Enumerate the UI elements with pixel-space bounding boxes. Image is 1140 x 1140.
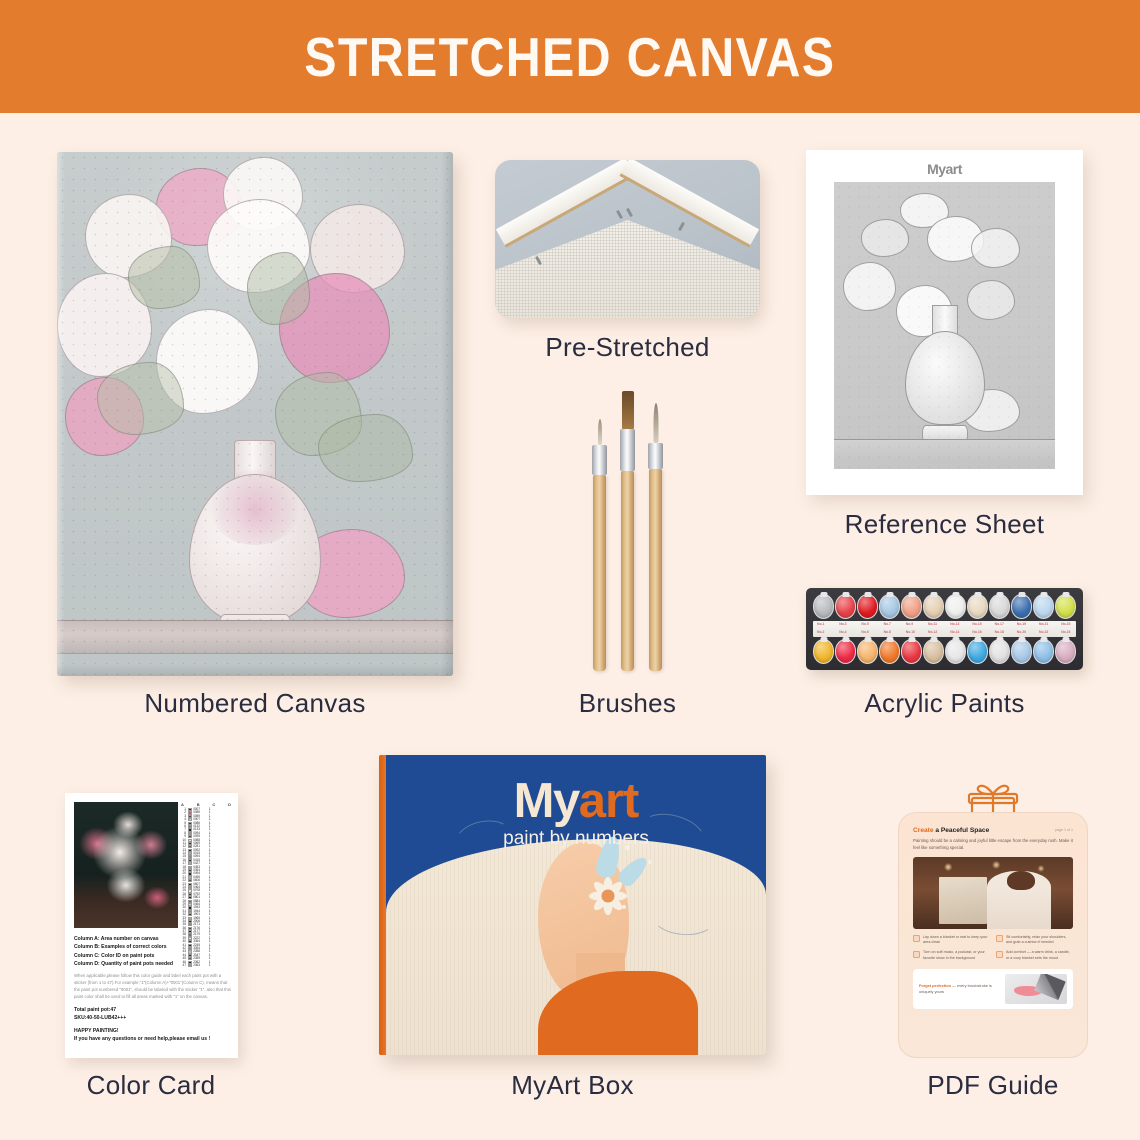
legend-column-d: Column D: Quantity of paint pots needed <box>74 960 232 968</box>
paint-pot-label: No.12 <box>928 630 937 634</box>
pdf-guide-note: Forget perfection — every brushstroke is… <box>913 969 1073 1009</box>
paint-pot-label: No.14 <box>950 630 959 634</box>
paint-pot <box>857 639 878 664</box>
reference-sheet-image: Myart <box>806 150 1083 495</box>
caption-color-card: Color Card <box>38 1070 264 1101</box>
staple-icon <box>626 208 633 217</box>
pdf-guide-tip: Sit comfortably, relax your shoulders, a… <box>996 935 1073 946</box>
color-card-image: A B C D 10007120085130089140007150086160… <box>65 793 238 1058</box>
paint-pot <box>813 639 834 664</box>
paint-pot-label: No.22 <box>1039 630 1048 634</box>
paint-pot <box>945 594 966 619</box>
paint-pot-label: No.17 <box>995 622 1004 626</box>
legend-column-c: Column C: Color ID on paint pots <box>74 952 232 960</box>
paint-pot <box>1055 639 1076 664</box>
title-highlight: Create <box>913 827 934 834</box>
paint-pot <box>989 639 1010 664</box>
paint-label-strip: No.1No.2No.3No.4No.5No.6No.7No.8No.9No.1… <box>813 621 1076 637</box>
brushes-image <box>575 386 680 671</box>
paint-pot-label: No.6 <box>861 630 868 634</box>
tip-icon <box>913 935 920 942</box>
paint-pot-label: No.15 <box>972 622 981 626</box>
paint-pot <box>901 594 922 619</box>
paint-pot-label: No.23 <box>1061 622 1070 626</box>
infographic-page: STRETCHED CANVAS <box>0 0 1140 1140</box>
tip-text: Add comfort — a warm drink, a candle, or… <box>1006 950 1073 961</box>
reference-artwork <box>834 182 1055 469</box>
contact-note: If you have any questions or need help,p… <box>74 1035 232 1043</box>
caption-acrylic-paints: Acrylic Paints <box>806 688 1083 719</box>
pdf-guide-tips: Lay down a blanket or mat to keep your a… <box>913 935 1073 962</box>
myart-box-image: Myart paint by numbers <box>379 755 766 1055</box>
pdf-guide-card: Create a Peaceful Space page 1 of 1 Pain… <box>898 812 1088 1058</box>
caption-numbered-canvas: Numbered Canvas <box>57 688 453 719</box>
brush-flat <box>621 391 634 671</box>
paint-pot <box>989 594 1010 619</box>
pdf-guide-photo <box>913 857 1073 929</box>
title-rest: a Peaceful Space <box>934 827 990 834</box>
legend-column-b: Column B: Examples of correct colors <box>74 943 232 951</box>
logo-my: My <box>514 774 579 828</box>
tip-text: Lay down a blanket or mat to keep your a… <box>923 935 990 946</box>
note-highlight: Forget perfection <box>919 983 951 988</box>
paint-pot-label: No.3 <box>839 622 846 626</box>
paint-pot <box>1055 594 1076 619</box>
paint-pot-label: No.8 <box>884 630 891 634</box>
color-card-text: Column A: Area number on canvas Column B… <box>74 935 232 1044</box>
paint-pot-label: No.13 <box>950 622 959 626</box>
pdf-page-number: page 1 of 1 <box>1055 828 1073 832</box>
paint-pot <box>879 639 900 664</box>
pre-stretched-image <box>495 160 760 318</box>
col-c: C <box>212 802 215 807</box>
paint-by-numbers-artwork <box>57 152 453 676</box>
number-dots-overlay <box>57 152 453 676</box>
staple-icon <box>678 222 685 231</box>
paint-pot-label: No.4 <box>839 630 846 634</box>
color-card-painting <box>74 802 178 928</box>
paint-pot <box>1033 594 1054 619</box>
reference-sheet-logo: Myart <box>806 161 1083 177</box>
paint-pot <box>857 594 878 619</box>
pdf-guide-title: Create a Peaceful Space <box>913 827 1073 834</box>
paint-pot <box>945 639 966 664</box>
paint-pot-label: No.16 <box>972 630 981 634</box>
caption-reference-sheet: Reference Sheet <box>806 509 1083 540</box>
caption-pdf-guide: PDF Guide <box>876 1070 1110 1101</box>
sku: SKU:40-50-LUB42+++ <box>74 1014 232 1022</box>
tip-text: Turn on soft music, a podcast, or your f… <box>923 950 990 961</box>
paint-pot <box>835 639 856 664</box>
tip-icon <box>996 951 1003 958</box>
paint-pot-label: No.11 <box>928 622 937 626</box>
happy-painting: HAPPY PAINTING! <box>74 1027 232 1035</box>
brand-logo: Myart <box>386 773 766 829</box>
paint-pot <box>901 639 922 664</box>
paint-pot-label: No.2 <box>817 630 824 634</box>
header-banner: STRETCHED CANVAS <box>0 0 1140 113</box>
paint-pot-row-bottom <box>813 639 1076 664</box>
numbered-canvas-image <box>57 152 453 676</box>
paint-pot <box>879 594 900 619</box>
caption-pre-stretched: Pre-Stretched <box>495 332 760 363</box>
pdf-guide-tip: Add comfort — a warm drink, a candle, or… <box>996 950 1073 961</box>
paint-pot <box>835 594 856 619</box>
paint-pot-label: No.9 <box>906 622 913 626</box>
paint-pot <box>1033 639 1054 664</box>
canvas-weave <box>495 220 760 318</box>
paint-pot <box>1011 639 1032 664</box>
box-spine <box>379 755 386 1055</box>
acrylic-paints-image: No.1No.2No.3No.4No.5No.6No.7No.8No.9No.1… <box>806 588 1083 670</box>
paint-pot-row-top <box>813 594 1076 619</box>
logo-art: art <box>579 774 639 828</box>
paint-pot-label: No.20 <box>1017 630 1026 634</box>
paint-pot-label: No.7 <box>884 622 891 626</box>
paint-pot-label: No.10 <box>906 630 915 634</box>
total-paint-pot: Total paint pot:47 <box>74 1006 232 1014</box>
color-card-fine-print: When applicable,please follow this color… <box>74 972 232 1001</box>
pdf-guide-tip: Turn on soft music, a podcast, or your f… <box>913 950 990 961</box>
caption-myart-box: MyArt Box <box>379 1070 766 1101</box>
brush-round-thin <box>593 419 606 671</box>
pdf-guide-body: Painting should be a calming and joyful … <box>913 838 1073 852</box>
brush-detail-fine <box>649 403 662 671</box>
paint-pot <box>923 639 944 664</box>
legend-column-a: Column A: Area number on canvas <box>74 935 232 943</box>
flower-icon <box>587 875 629 917</box>
paint-pot-label: No.24 <box>1061 630 1070 634</box>
col-d: D <box>228 802 231 807</box>
box-front-face: Myart paint by numbers <box>386 755 766 1055</box>
page-title: STRETCHED CANVAS <box>304 25 835 89</box>
paint-pot-label: No.18 <box>995 630 1004 634</box>
pdf-guide-image: Create a Peaceful Space page 1 of 1 Pain… <box>898 782 1088 1058</box>
caption-brushes: Brushes <box>495 688 760 719</box>
paint-pot <box>923 594 944 619</box>
note-thumbnail <box>1005 974 1067 1004</box>
tip-icon <box>913 951 920 958</box>
tip-text: Sit comfortably, relax your shoulders, a… <box>1006 935 1073 946</box>
brand-tagline: paint by numbers <box>386 828 766 850</box>
paint-pot <box>813 594 834 619</box>
paint-pot <box>1011 594 1032 619</box>
paint-pot <box>967 594 988 619</box>
paint-pot-label: No.1 <box>817 622 824 626</box>
staple-icon <box>616 210 623 219</box>
pdf-guide-tip: Lay down a blanket or mat to keep your a… <box>913 935 990 946</box>
paint-pot-label: No.21 <box>1039 622 1048 626</box>
paint-pot-label: No.5 <box>861 622 868 626</box>
paint-pot <box>967 639 988 664</box>
paint-pot-label: No.19 <box>1017 622 1026 626</box>
tip-icon <box>996 935 1003 942</box>
